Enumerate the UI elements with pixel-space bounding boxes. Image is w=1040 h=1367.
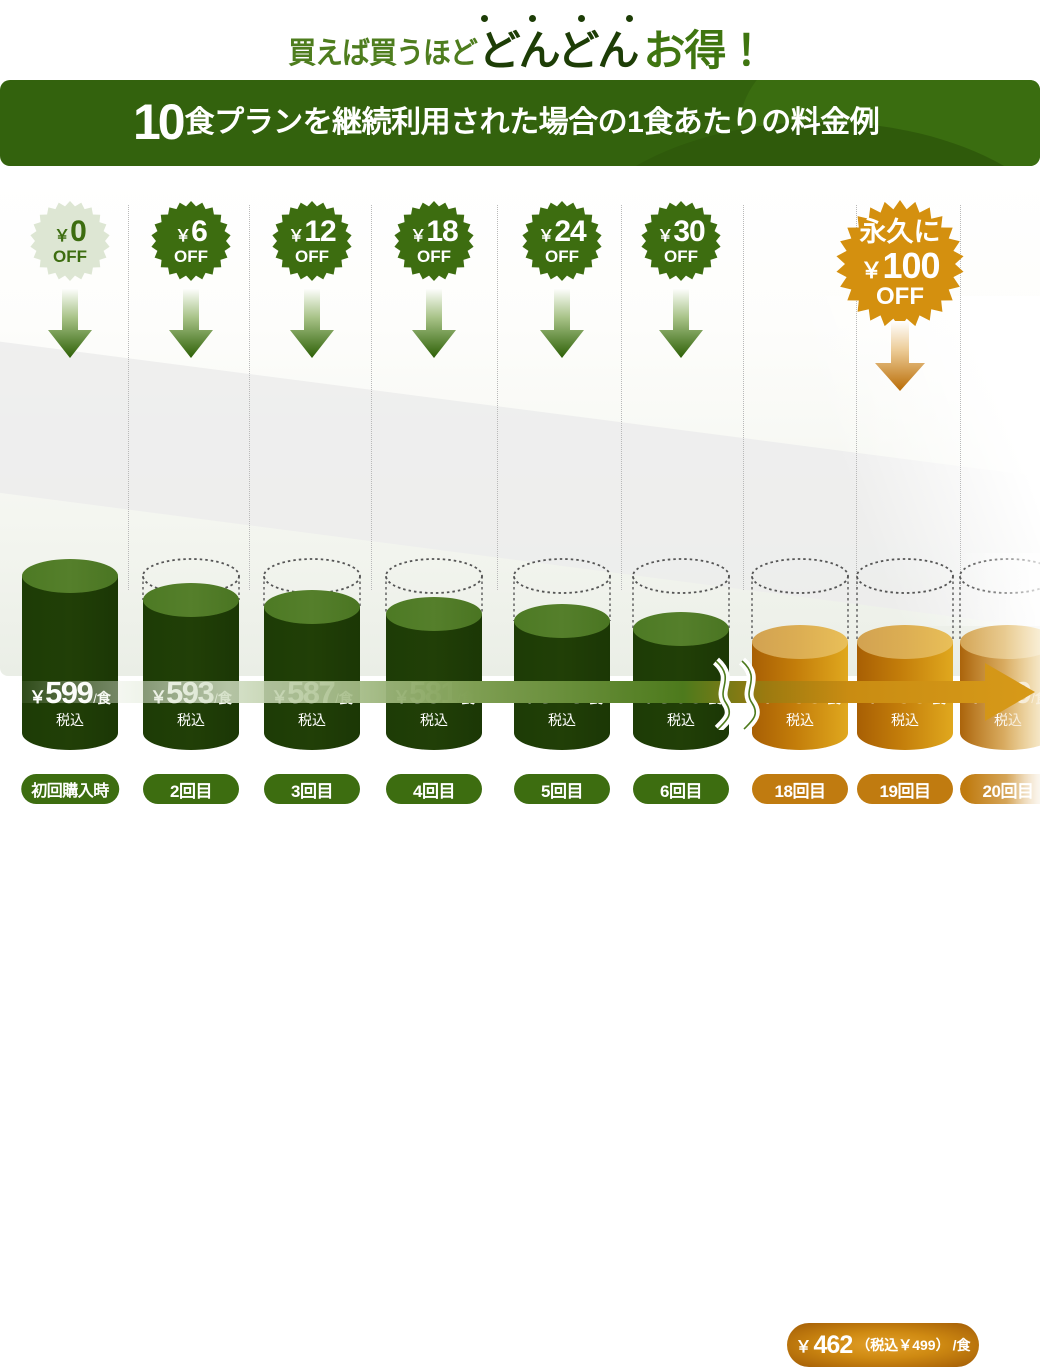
purchase-round-label-7[interactable]: 18回目 — [752, 774, 848, 804]
purchase-round-label-3[interactable]: 3回目 — [264, 774, 360, 804]
purchase-round-text: 3回目 — [291, 777, 333, 802]
price-column-6: ￥30OFF￥569/食税込6回目 — [620, 176, 742, 676]
forever-discount-badge: 永久に※￥100OFF — [835, 199, 965, 329]
final-amount: 462 — [814, 1331, 853, 1360]
emphasis-dots — [481, 15, 634, 22]
purchase-round-label-4[interactable]: 4回目 — [386, 774, 482, 804]
purchase-round-text: 6回目 — [660, 777, 702, 802]
purchase-round-text: 18回目 — [775, 777, 826, 802]
final-price-pill: ￥ 462 （税込￥499） /食 — [787, 1323, 979, 1367]
headline-part2-text: どんどん — [479, 27, 638, 74]
purchase-round-text: 4回目 — [413, 777, 455, 802]
forever-off-label: OFF — [860, 285, 941, 309]
page-headline: 買えば買うほど どんどん お得！ — [0, 2, 1040, 72]
headline-part1: 買えば買うほど — [288, 39, 477, 72]
down-arrow-icon — [874, 321, 926, 393]
purchase-round-label-6[interactable]: 6回目 — [633, 774, 729, 804]
column-divider-4 — [497, 205, 498, 590]
price-column-5: ￥24OFF￥575/食税込5回目 — [501, 176, 623, 676]
price-column-1: ￥0OFF￥599/食税込初回購入時 — [9, 176, 131, 676]
headline-part3: お得！ — [639, 30, 766, 72]
price-column-4: ￥18OFF￥581/食税込4回目 — [373, 176, 495, 676]
banner-number: 10 — [133, 97, 185, 147]
section-banner: 10 食プランを継続利用された場合の1食あたりの料金例 — [0, 80, 1040, 166]
price-column-3: ￥12OFF￥587/食税込3回目 — [251, 176, 373, 676]
final-unit: /食 — [950, 1335, 971, 1355]
purchase-round-label-2[interactable]: 2回目 — [143, 774, 239, 804]
summary-arrow-bar: ￥ 462 （税込￥499） /食 — [0, 655, 1040, 730]
forever-yen: ￥ — [860, 260, 882, 282]
price-column-2: ￥6OFF￥593/食税込2回目 — [130, 176, 252, 676]
forever-down-arrow — [874, 321, 926, 398]
banner-rest: 食プランを継続利用された場合の1食あたりの料金例 — [185, 108, 880, 138]
purchase-round-label-9[interactable]: 20回目 — [960, 774, 1040, 804]
headline-part2: どんどん — [477, 30, 640, 72]
purchase-round-label-8[interactable]: 19回目 — [857, 774, 953, 804]
purchase-round-text: 19回目 — [880, 777, 931, 802]
arrow-bar-graphic — [0, 655, 1040, 730]
infographic-root: 買えば買うほど どんどん お得！ 10 食プランを継続利用された場合の1食あたり… — [0, 0, 1040, 730]
purchase-round-label-1[interactable]: 初回購入時 — [21, 774, 119, 804]
purchase-round-text: 2回目 — [170, 777, 212, 802]
purchase-round-text: 20回目 — [983, 777, 1034, 802]
banner-text: 10 食プランを継続利用された場合の1食あたりの料金例 — [133, 80, 879, 166]
purchase-round-text: 初回購入時 — [31, 777, 109, 801]
forever-amount: 100 — [882, 248, 939, 284]
purchase-round-label-5[interactable]: 5回目 — [514, 774, 610, 804]
final-yen: ￥ — [796, 1333, 814, 1357]
forever-label: 永久に※ — [860, 219, 941, 246]
purchase-round-text: 5回目 — [541, 777, 583, 802]
final-note: （税込￥499） — [852, 1335, 949, 1355]
asterisk-mark: ※ — [932, 206, 942, 218]
